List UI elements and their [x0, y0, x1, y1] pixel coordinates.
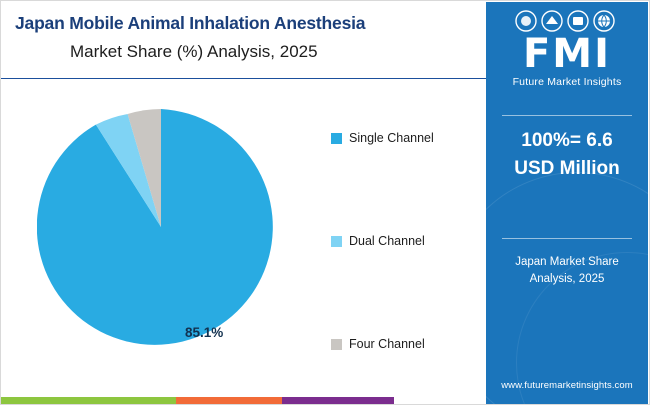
legend-swatch-icon — [331, 339, 342, 350]
legend-swatch-icon — [331, 236, 342, 247]
brand-panel: FMI Future Market Insights 100%= 6.6 USD… — [486, 2, 648, 405]
legend-item-four-channel[interactable]: Four Channel — [331, 337, 425, 351]
bottom-color-bar — [1, 397, 489, 404]
caption-line-1: Japan Market Share — [486, 254, 648, 271]
legend-item-dual-channel[interactable]: Dual Channel — [331, 234, 425, 248]
value-total: 100%= 6.6 — [486, 127, 648, 155]
legend: Single Channel Dual Channel Four Channel — [331, 79, 481, 391]
bar-segment-orange — [176, 397, 282, 404]
chart-area: 85.1% Single Channel Dual Channel Four C… — [1, 79, 488, 391]
logo-tagline: Future Market Insights — [486, 76, 648, 88]
page-subtitle: Market Share (%) Analysis, 2025 — [15, 37, 474, 67]
chart-page: Japan Mobile Animal Inhalation Anesthesi… — [0, 0, 650, 405]
caption-line-2: Analysis, 2025 — [486, 271, 648, 288]
website-url[interactable]: www.futuremarketinsights.com — [486, 380, 648, 391]
logo-symbols-icon — [512, 10, 622, 32]
bar-segment-white — [394, 397, 489, 404]
value-unit: USD Million — [486, 155, 648, 183]
caption-block: Japan Market Share Analysis, 2025 — [486, 254, 648, 288]
page-title: Japan Mobile Animal Inhalation Anesthesi… — [15, 9, 474, 37]
legend-label: Single Channel — [349, 131, 434, 145]
pie-chart: 85.1% — [37, 103, 285, 351]
title-block: Japan Mobile Animal Inhalation Anesthesi… — [1, 1, 488, 79]
logo-block: FMI Future Market Insights — [486, 10, 648, 88]
legend-label: Dual Channel — [349, 234, 425, 248]
logo-icon-row — [486, 10, 648, 32]
legend-swatch-icon — [331, 133, 342, 144]
divider-bottom — [502, 238, 632, 239]
bar-segment-purple — [282, 397, 394, 404]
divider-top — [502, 115, 632, 116]
legend-label: Four Channel — [349, 337, 425, 351]
value-block: 100%= 6.6 USD Million — [486, 127, 648, 183]
legend-item-single-channel[interactable]: Single Channel — [331, 131, 434, 145]
bar-segment-green — [1, 397, 176, 404]
logo-wordmark: FMI — [486, 33, 648, 75]
pie-svg — [37, 103, 285, 351]
pie-data-label-single-channel: 85.1% — [185, 325, 223, 340]
